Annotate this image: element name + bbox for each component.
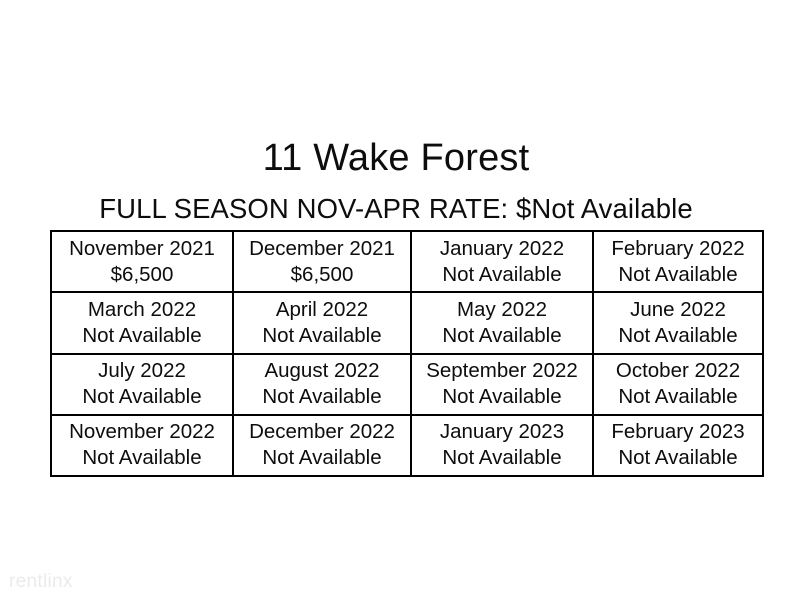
rate-cell: December 2022 Not Available xyxy=(233,415,411,476)
rate-cell: April 2022 Not Available xyxy=(233,292,411,353)
rate-cell-value: $6,500 xyxy=(236,262,408,288)
rate-cell-value: Not Available xyxy=(236,445,408,471)
rate-cell-value: Not Available xyxy=(414,384,590,410)
rate-cell-month: August 2022 xyxy=(236,358,408,384)
rate-cell-value: Not Available xyxy=(596,323,760,349)
rate-cell-value: Not Available xyxy=(236,384,408,410)
rate-cell-value: Not Available xyxy=(596,262,760,288)
rate-cell-value: Not Available xyxy=(414,445,590,471)
rate-cell: August 2022 Not Available xyxy=(233,354,411,415)
rate-cell: February 2023 Not Available xyxy=(593,415,763,476)
rate-cell-value: Not Available xyxy=(596,445,760,471)
rentlinx-watermark: rentlinx xyxy=(9,571,73,593)
rate-cell: March 2022 Not Available xyxy=(51,292,233,353)
full-season-rate-subtitle: FULL SEASON NOV-APR RATE: $Not Available xyxy=(0,192,792,225)
rate-cell-value: Not Available xyxy=(54,323,230,349)
rate-cell: July 2022 Not Available xyxy=(51,354,233,415)
monthly-rate-table: November 2021 $6,500 December 2021 $6,50… xyxy=(50,230,764,477)
page-title: 11 Wake Forest xyxy=(0,136,792,180)
rate-cell: September 2022 Not Available xyxy=(411,354,593,415)
rate-cell: January 2022 Not Available xyxy=(411,231,593,292)
rate-cell: October 2022 Not Available xyxy=(593,354,763,415)
rate-cell-month: February 2023 xyxy=(596,419,760,445)
rate-cell-value: Not Available xyxy=(54,384,230,410)
rate-cell-month: January 2023 xyxy=(414,419,590,445)
rate-cell-value: Not Available xyxy=(596,384,760,410)
rate-cell-month: January 2022 xyxy=(414,236,590,262)
rate-cell: November 2022 Not Available xyxy=(51,415,233,476)
table-row: November 2021 $6,500 December 2021 $6,50… xyxy=(51,231,763,292)
rate-cell-month: April 2022 xyxy=(236,297,408,323)
rate-cell-value: Not Available xyxy=(414,323,590,349)
rate-cell-month: February 2022 xyxy=(596,236,760,262)
rate-cell: December 2021 $6,500 xyxy=(233,231,411,292)
rate-cell: June 2022 Not Available xyxy=(593,292,763,353)
rate-cell-value: Not Available xyxy=(54,445,230,471)
rate-cell-month: July 2022 xyxy=(54,358,230,384)
table-row: July 2022 Not Available August 2022 Not … xyxy=(51,354,763,415)
rate-cell-value: Not Available xyxy=(236,323,408,349)
rate-cell-month: November 2022 xyxy=(54,419,230,445)
table-row: November 2022 Not Available December 202… xyxy=(51,415,763,476)
rate-cell: January 2023 Not Available xyxy=(411,415,593,476)
rate-cell-month: June 2022 xyxy=(596,297,760,323)
rate-cell-value: Not Available xyxy=(414,262,590,288)
rate-cell: February 2022 Not Available xyxy=(593,231,763,292)
rate-cell-month: September 2022 xyxy=(414,358,590,384)
rate-cell-month: October 2022 xyxy=(596,358,760,384)
rate-cell-month: May 2022 xyxy=(414,297,590,323)
rate-cell: May 2022 Not Available xyxy=(411,292,593,353)
rate-cell-month: December 2022 xyxy=(236,419,408,445)
table-row: March 2022 Not Available April 2022 Not … xyxy=(51,292,763,353)
rate-cell-month: December 2021 xyxy=(236,236,408,262)
rate-cell-value: $6,500 xyxy=(54,262,230,288)
rate-cell-month: November 2021 xyxy=(54,236,230,262)
rate-cell-month: March 2022 xyxy=(54,297,230,323)
rate-cell: November 2021 $6,500 xyxy=(51,231,233,292)
